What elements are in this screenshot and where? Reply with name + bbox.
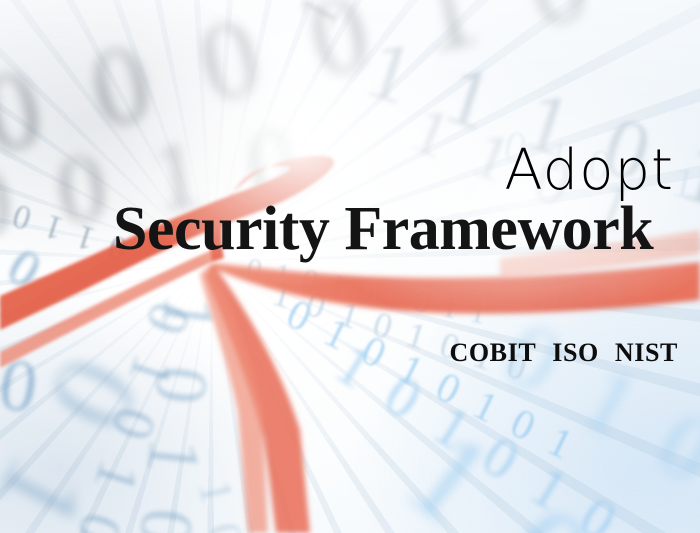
banner-eyebrow: Adopt bbox=[504, 143, 674, 199]
banner-text-block: Adopt Security Framework COBITISONIST bbox=[0, 0, 700, 533]
standard-name: COBIT bbox=[449, 338, 536, 368]
page-title: Security Framework bbox=[113, 198, 653, 261]
standard-name: NIST bbox=[615, 338, 678, 368]
standard-name: ISO bbox=[552, 338, 599, 368]
standards-list: COBITISONIST bbox=[449, 338, 678, 368]
security-framework-banner: 0 0 0 0 1 00 0 1 00 00 1 01 0 10 1 0 1 1… bbox=[0, 0, 700, 533]
